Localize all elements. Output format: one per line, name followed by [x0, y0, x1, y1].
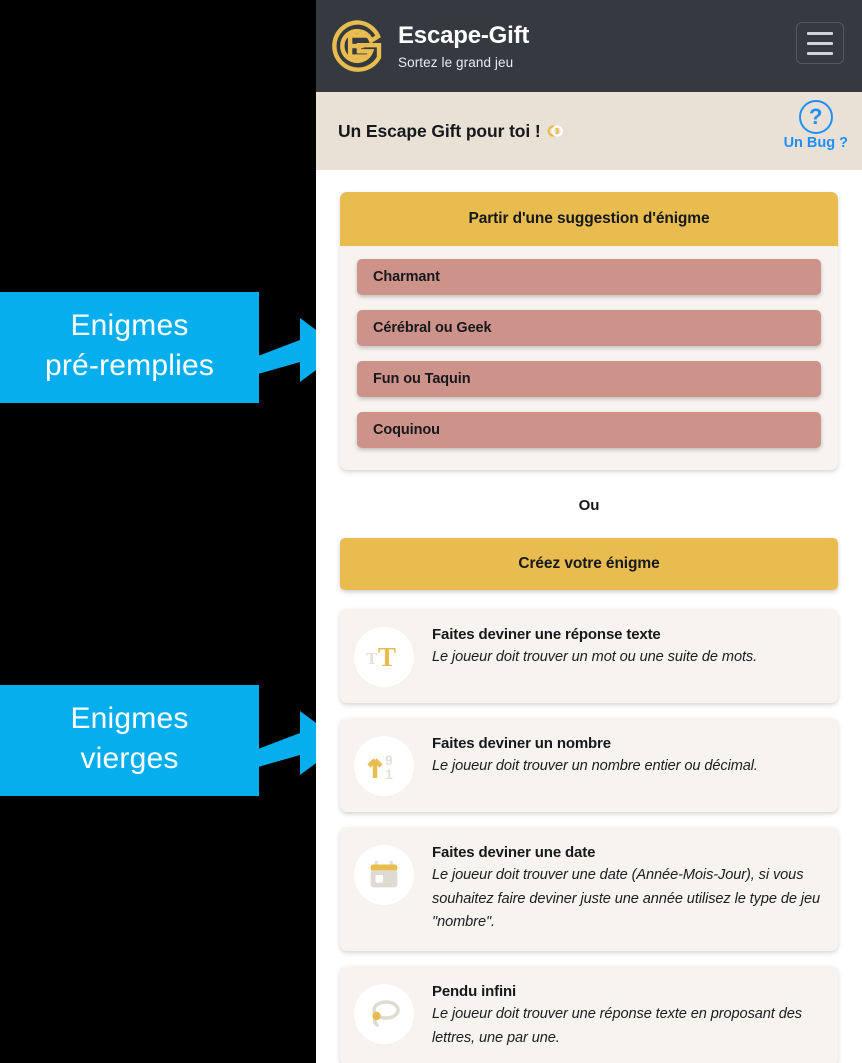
svg-text:T: T [378, 642, 396, 672]
annotation-label-pre-filled: Enigmes pré-remplies [0, 292, 259, 403]
annotation-callout-pre-filled: Enigmes pré-remplies [0, 292, 344, 403]
page-title: Un Escape Gift pour toi ! [338, 121, 564, 142]
game-type-title: Faites deviner un nombre [432, 735, 820, 752]
suggestion-item-coquinou[interactable]: Coquinou [357, 412, 821, 448]
bug-report-label: Un Bug ? [784, 135, 848, 151]
create-your-enigma-button[interactable]: Créez votre énigme [340, 538, 838, 590]
annotation-line-2: vierges [10, 739, 249, 779]
hamburger-bar [807, 42, 833, 45]
bug-report-link[interactable]: ? Un Bug ? [784, 100, 848, 151]
arrow-up-digits-icon: 9 1 [364, 746, 404, 786]
hamburger-bar [807, 32, 833, 35]
annotation-callout-blank: Enigmes vierges [0, 685, 344, 796]
brand-title: Escape-Gift [398, 22, 529, 50]
suggestion-item-charmant[interactable]: Charmant [357, 259, 821, 295]
calendar-glyph-icon [365, 856, 403, 894]
or-divider-label: Ou [340, 497, 838, 514]
game-type-body: Faites deviner une date Le joueur doit t… [432, 843, 820, 935]
spinner-refresh-icon [546, 122, 564, 140]
svg-text:1: 1 [385, 766, 393, 782]
annotation-line-1: Enigmes [10, 699, 249, 739]
text-tt-icon: T T [354, 627, 414, 687]
suggestion-card: Partir d'une suggestion d'énigme Charman… [340, 192, 838, 470]
hamburger-bar [807, 52, 833, 55]
brand-tagline: Sortez le grand jeu [398, 55, 529, 70]
game-type-body: Faites deviner une réponse texte Le joue… [432, 625, 820, 670]
main-content: Partir d'une suggestion d'énigme Charman… [316, 170, 862, 1063]
game-type-card-text[interactable]: T T Faites deviner une réponse texte Le … [340, 609, 838, 703]
game-type-card-date[interactable]: Faites deviner une date Le joueur doit t… [340, 827, 838, 951]
app-header: Escape-Gift Sortez le grand jeu [316, 0, 862, 92]
suggestion-item-fun-ou-taquin[interactable]: Fun ou Taquin [357, 361, 821, 397]
game-type-card-number[interactable]: 9 1 Faites deviner un nombre Le joueur d… [340, 718, 838, 812]
annotation-line-2: pré-remplies [10, 346, 249, 386]
svg-text:T: T [366, 649, 378, 668]
sub-header: Un Escape Gift pour toi ! ? Un Bug ? [316, 92, 862, 170]
suggestion-card-heading: Partir d'une suggestion d'énigme [340, 192, 838, 246]
screenshot-root: Enigmes pré-remplies Enigmes vierges [0, 0, 862, 1063]
game-type-list: T T Faites deviner une réponse texte Le … [340, 609, 838, 1063]
game-type-title: Pendu infini [432, 983, 820, 1000]
lasso-loop-icon [364, 994, 404, 1034]
game-type-body: Faites deviner un nombre Le joueur doit … [432, 734, 820, 779]
game-type-description: Le joueur doit trouver un nombre entier … [432, 755, 820, 779]
suggestion-list: Charmant Cérébral ou Geek Fun ou Taquin … [340, 246, 838, 470]
tt-glyph-icon: T T [364, 637, 404, 677]
game-type-title: Faites deviner une date [432, 844, 820, 861]
suggestion-item-cerebral-ou-geek[interactable]: Cérébral ou Geek [357, 310, 821, 346]
game-type-title: Faites deviner une réponse texte [432, 626, 820, 643]
game-type-card-hangman[interactable]: Pendu infini Le joueur doit trouver une … [340, 966, 838, 1063]
number-arrow-icon: 9 1 [354, 736, 414, 796]
app-viewport: Escape-Gift Sortez le grand jeu Un Escap… [316, 0, 862, 1063]
game-type-description: Le joueur doit trouver un mot ou une sui… [432, 646, 820, 670]
page-title-text: Un Escape Gift pour toi ! [338, 121, 541, 142]
hangman-loop-icon [354, 984, 414, 1044]
calendar-icon [354, 845, 414, 905]
game-type-description: Le joueur doit trouver une date (Année-M… [432, 864, 820, 935]
brand-text-block: Escape-Gift Sortez le grand jeu [398, 22, 529, 70]
game-type-body: Pendu infini Le joueur doit trouver une … [432, 982, 820, 1050]
annotation-line-1: Enigmes [10, 306, 249, 346]
question-circle-icon: ? [799, 100, 833, 134]
escape-gift-logo-icon [330, 18, 386, 74]
hamburger-menu-icon[interactable] [796, 22, 844, 64]
annotation-band: Enigmes pré-remplies Enigmes vierges [0, 0, 316, 1063]
game-type-description: Le joueur doit trouver une réponse texte… [432, 1003, 820, 1050]
annotation-label-blank: Enigmes vierges [0, 685, 259, 796]
